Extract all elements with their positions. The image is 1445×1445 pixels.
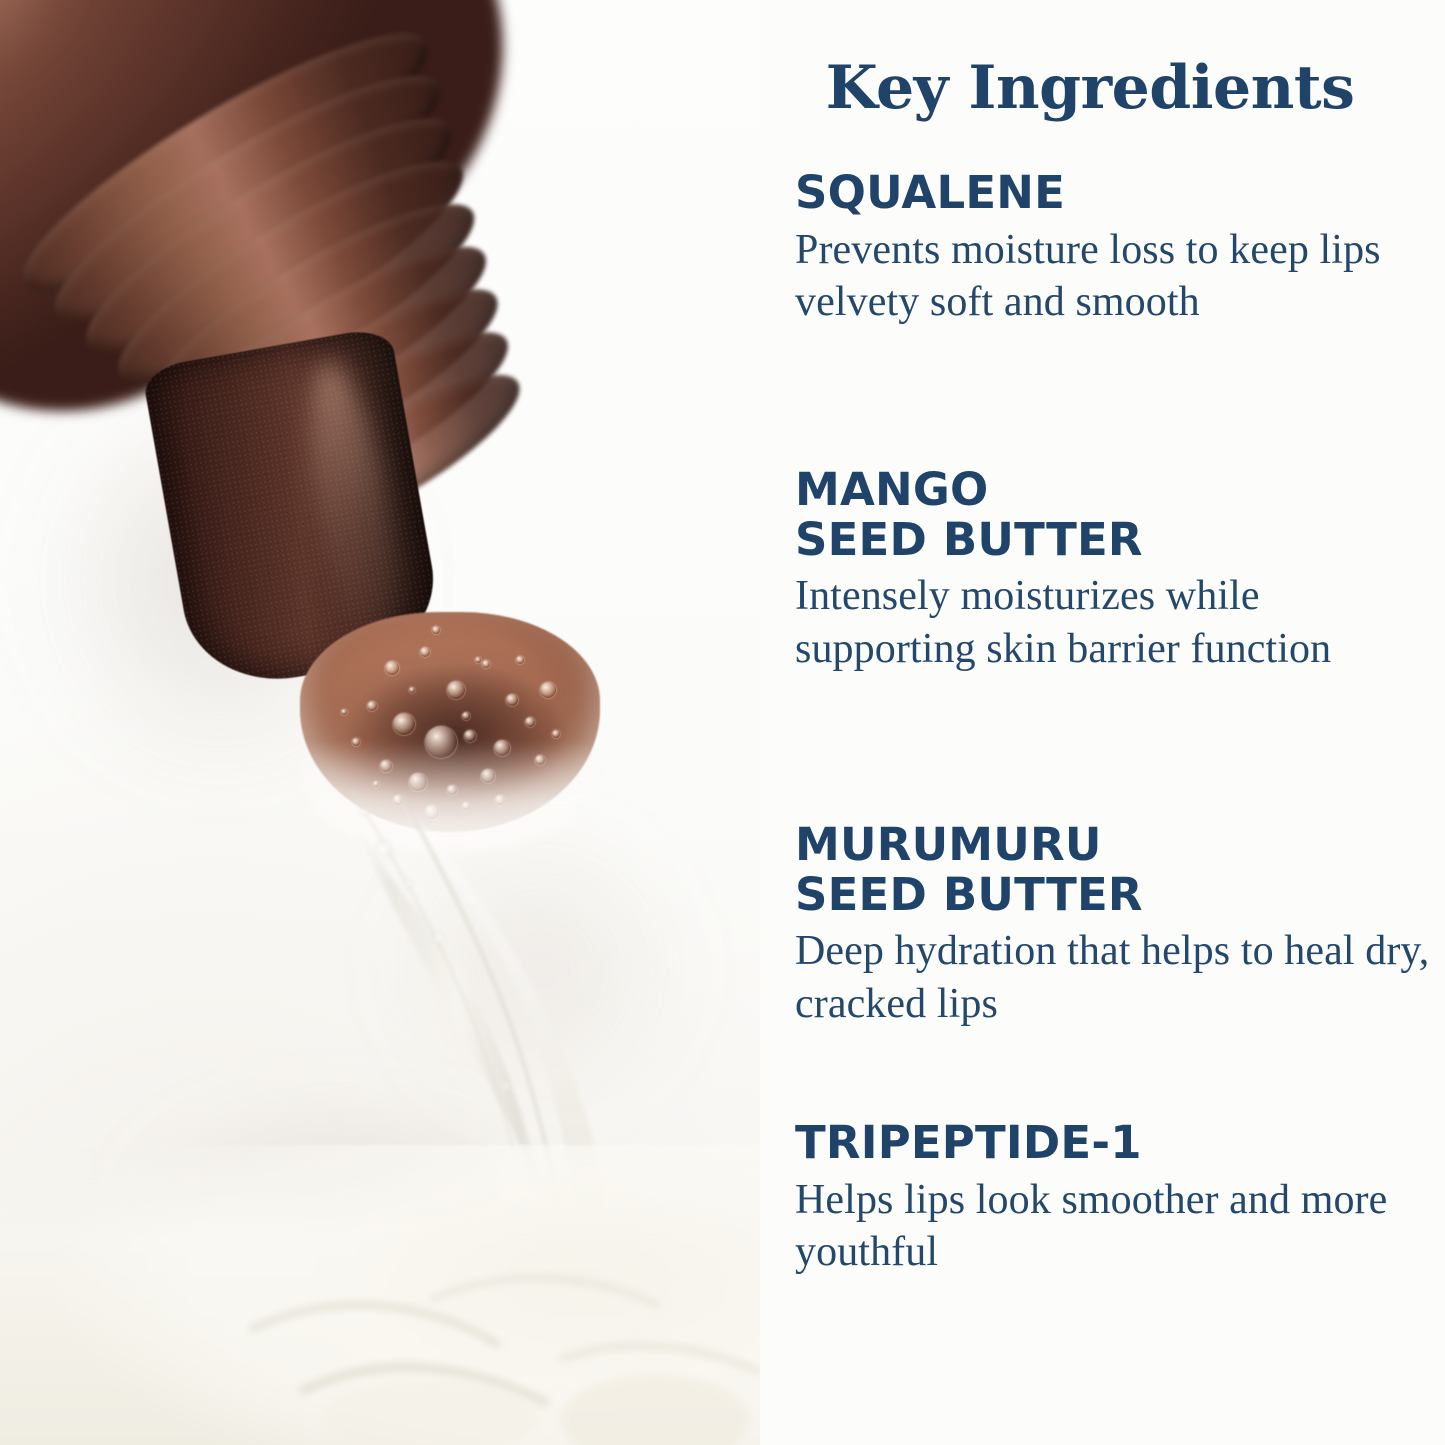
ingredient-name: TRIPEPTIDE-1 bbox=[795, 1118, 1435, 1168]
ingredient-description: Prevents moisture loss to keep lips velv… bbox=[795, 224, 1435, 330]
ingredient-block-mango-seed-butter: MANGOSEED BUTTER Intensely moisturizes w… bbox=[795, 465, 1435, 676]
ingredient-block-murumuru-seed-butter: MURUMURUSEED BUTTER Deep hydration that … bbox=[795, 820, 1435, 1031]
cream-pool-swirls bbox=[0, 0, 760, 1445]
ingredient-block-tripeptide-1: TRIPEPTIDE-1 Helps lips look smoother an… bbox=[795, 1118, 1435, 1279]
page-title: Key Ingredients bbox=[760, 58, 1420, 118]
ingredient-name: SQUALENE bbox=[795, 168, 1435, 218]
ingredient-description: Deep hydration that helps to heal dry, c… bbox=[795, 925, 1435, 1031]
ingredient-name: MURUMURUSEED BUTTER bbox=[795, 820, 1435, 919]
product-photo bbox=[0, 0, 760, 1445]
ingredients-panel: Key Ingredients SQUALENE Prevents moistu… bbox=[760, 0, 1445, 1445]
ingredient-description: Intensely moisturizes while supporting s… bbox=[795, 570, 1435, 676]
ingredient-block-squalene: SQUALENE Prevents moisture loss to keep … bbox=[795, 168, 1435, 329]
ingredient-description: Helps lips look smoother and more youthf… bbox=[795, 1174, 1435, 1280]
ingredient-name: MANGOSEED BUTTER bbox=[795, 465, 1435, 564]
product-ingredients-graphic: Key Ingredients SQUALENE Prevents moistu… bbox=[0, 0, 1445, 1445]
